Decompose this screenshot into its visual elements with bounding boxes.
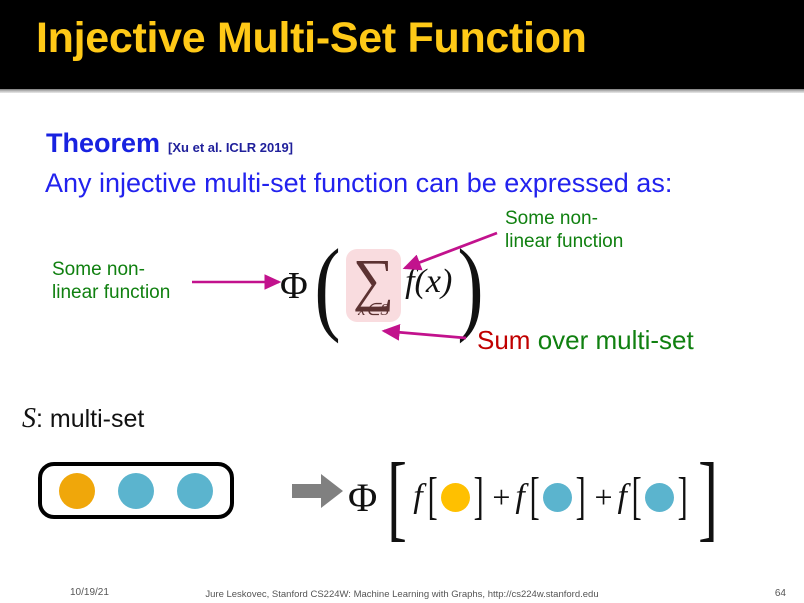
open-paren: ( xyxy=(314,248,340,324)
annotation-left-nonlinear: Some non- linear function xyxy=(52,258,170,304)
footer-attribution: Jure Leskovec, Stanford CS224W: Machine … xyxy=(0,589,804,600)
set-dot-blue-2 xyxy=(177,473,213,509)
formula-injective-expression: Φ ( ∑ x∈S f(x) ) xyxy=(280,228,488,343)
f-of-x-term: f(x) xyxy=(405,263,452,301)
arg-dot-orange xyxy=(441,483,470,512)
inner-bracket-open-2: [ xyxy=(529,479,539,515)
inner-bracket-close-2: ] xyxy=(576,479,586,515)
annotation-right-line2: linear function xyxy=(505,230,623,253)
phi-symbol: Φ xyxy=(280,264,308,308)
f-symbol-3: f xyxy=(618,478,627,516)
set-dot-orange xyxy=(59,473,95,509)
f-term-blue-1: f [ ] xyxy=(515,478,589,516)
title-banner: Injective Multi-Set Function xyxy=(0,0,804,89)
sum-highlight-box: ∑ x∈S xyxy=(346,249,401,322)
footer-page-number: 64 xyxy=(775,588,786,599)
inner-bracket-close-1: ] xyxy=(474,479,484,515)
annotation-sum-word: Sum xyxy=(477,325,530,355)
inner-bracket-close-3: ] xyxy=(678,479,688,515)
inner-bracket-open-3: [ xyxy=(632,479,642,515)
plus-sign-2: + xyxy=(594,479,612,516)
sum-subscript: x∈S xyxy=(358,300,389,320)
banner-divider xyxy=(0,89,804,93)
set-dot-blue-1 xyxy=(118,473,154,509)
theorem-citation: [Xu et al. ICLR 2019] xyxy=(168,140,293,155)
annotation-over-multiset-word: over multi-set xyxy=(538,325,694,355)
annotation-sum-over-multiset: Sum over multi-set xyxy=(477,325,694,356)
formula-expanded-expression: Φ [ f [ ] + f [ ] + f [ ] ] xyxy=(348,452,724,542)
arg-dot-blue-1 xyxy=(543,483,572,512)
annotation-left-line2: linear function xyxy=(52,281,170,304)
f-term-orange: f [ ] xyxy=(413,478,487,516)
outer-bracket-close: ] xyxy=(698,463,718,530)
implies-arrow-icon xyxy=(292,473,344,509)
theorem-statement: Any injective multi-set function can be … xyxy=(45,165,790,201)
multiset-symbol: S xyxy=(22,403,36,434)
theorem-label: Theorem xyxy=(46,128,160,159)
annotation-right-line1: Some non- xyxy=(505,207,623,230)
multiset-example-box xyxy=(38,462,234,519)
annotation-left-line1: Some non- xyxy=(52,258,170,281)
theorem-heading-row: Theorem [Xu et al. ICLR 2019] xyxy=(46,128,293,159)
close-paren: ) xyxy=(458,248,484,324)
inner-bracket-open-1: [ xyxy=(427,479,437,515)
phi-symbol-bottom: Φ xyxy=(348,474,377,521)
summation-icon: ∑ xyxy=(353,253,394,306)
outer-bracket-open: [ xyxy=(387,463,407,530)
multiset-definition: S: multi-set xyxy=(22,403,144,435)
annotation-right-nonlinear: Some non- linear function xyxy=(505,207,623,253)
plus-sign-1: + xyxy=(492,479,510,516)
f-symbol-2: f xyxy=(515,478,524,516)
f-term-blue-2: f [ ] xyxy=(618,478,692,516)
multiset-description: : multi-set xyxy=(36,405,144,433)
f-symbol-1: f xyxy=(413,478,422,516)
arg-dot-blue-2 xyxy=(645,483,674,512)
page-title: Injective Multi-Set Function xyxy=(36,14,587,63)
